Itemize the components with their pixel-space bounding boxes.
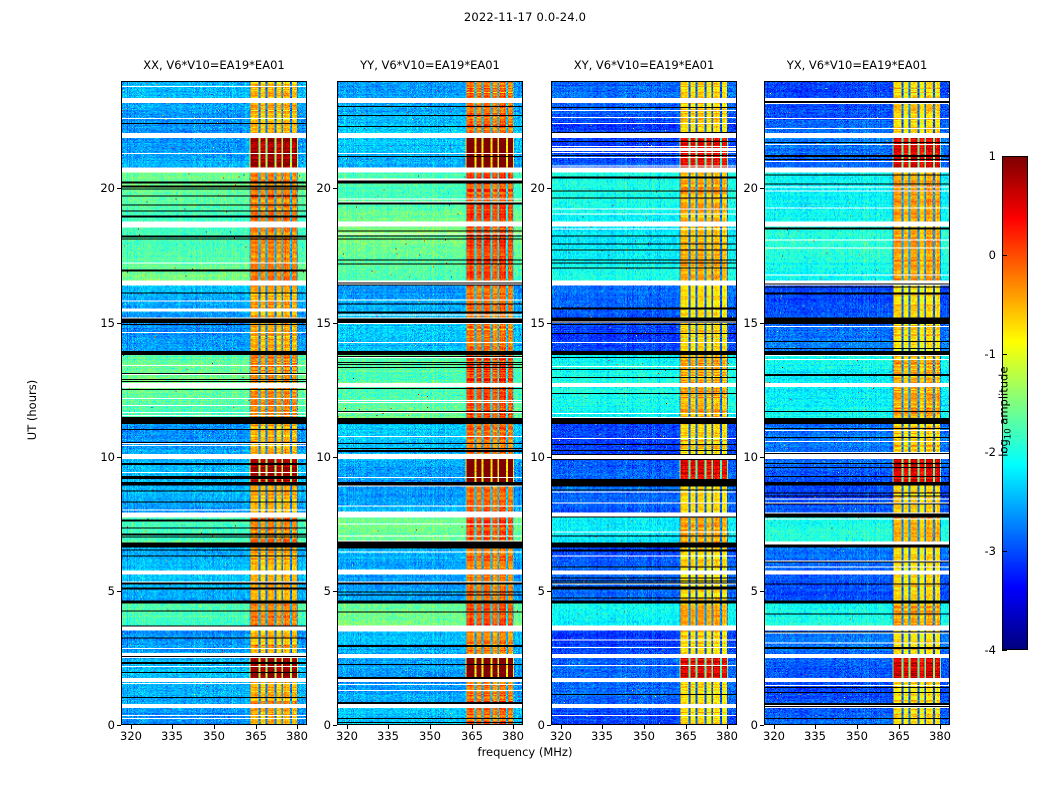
y-tick [117, 591, 121, 592]
y-tick [547, 725, 551, 726]
colorbar-tick-label: -2 [960, 445, 996, 459]
colorbar-tick [1002, 650, 1007, 651]
colorbar-tick-label: 1 [960, 149, 996, 163]
y-tick-label: 15 [295, 316, 331, 330]
y-tick [547, 323, 551, 324]
panel-title-yx: YX, V6*V10=EA19*EA01 [764, 58, 950, 72]
panel-title-xy: XY, V6*V10=EA19*EA01 [551, 58, 737, 72]
y-tick-label: 0 [722, 718, 758, 732]
x-tick-label: 350 [846, 729, 868, 743]
y-tick [333, 457, 337, 458]
y-tick-label: 5 [722, 584, 758, 598]
y-tick [333, 725, 337, 726]
x-tick-label: 335 [804, 729, 826, 743]
colorbar-tick-label: -4 [960, 643, 996, 657]
y-tick [760, 188, 764, 189]
y-tick-label: 10 [295, 450, 331, 464]
x-tick-label: 320 [550, 729, 572, 743]
y-tick-label: 10 [509, 450, 545, 464]
y-tick-label: 0 [509, 718, 545, 732]
y-tick [117, 725, 121, 726]
colorbar-tick [1002, 156, 1007, 157]
y-tick-label: 20 [509, 181, 545, 195]
y-tick [547, 591, 551, 592]
y-tick-label: 20 [79, 181, 115, 195]
y-tick-label: 10 [722, 450, 758, 464]
y-tick-label: 10 [79, 450, 115, 464]
x-tick-label: 350 [419, 729, 441, 743]
y-tick-label: 0 [295, 718, 331, 732]
x-tick-label: 350 [203, 729, 225, 743]
x-tick-label: 380 [929, 729, 951, 743]
y-tick-label: 15 [79, 316, 115, 330]
colorbar-tick [1002, 255, 1007, 256]
y-tick [760, 457, 764, 458]
y-tick-label: 5 [295, 584, 331, 598]
y-tick [547, 188, 551, 189]
x-tick-label: 365 [461, 729, 483, 743]
y-tick-label: 20 [295, 181, 331, 195]
x-tick-label: 365 [888, 729, 910, 743]
y-tick [760, 591, 764, 592]
y-tick [333, 188, 337, 189]
colorbar-tick-label: -1 [960, 347, 996, 361]
y-tick [333, 591, 337, 592]
x-tick-label: 335 [161, 729, 183, 743]
x-tick-label: 365 [675, 729, 697, 743]
x-tick-label: 320 [763, 729, 785, 743]
y-tick-label: 20 [722, 181, 758, 195]
y-tick-label: 15 [509, 316, 545, 330]
x-tick-label: 320 [336, 729, 358, 743]
y-tick [760, 323, 764, 324]
waterfall-panel-xy[interactable] [551, 81, 737, 725]
colorbar-tick-label: 0 [960, 248, 996, 262]
panel-title-xx: XX, V6*V10=EA19*EA01 [121, 58, 307, 72]
panel-title-yy: YY, V6*V10=EA19*EA01 [337, 58, 523, 72]
waterfall-panel-yy[interactable] [337, 81, 523, 725]
y-tick-label: 5 [79, 584, 115, 598]
y-tick [117, 323, 121, 324]
colorbar-label: log10 amplitude [996, 342, 1013, 482]
waterfall-panel-yx[interactable] [764, 81, 950, 725]
x-tick-label: 335 [377, 729, 399, 743]
colorbar-tick-label: -3 [960, 544, 996, 558]
y-axis-label: UT (hours) [25, 350, 39, 470]
y-tick [117, 188, 121, 189]
y-tick [547, 457, 551, 458]
x-tick-label: 350 [633, 729, 655, 743]
y-tick-label: 0 [79, 718, 115, 732]
x-tick-label: 335 [591, 729, 613, 743]
x-tick-label: 365 [245, 729, 267, 743]
y-tick [760, 725, 764, 726]
figure-suptitle: 2022-11-17 0.0-24.0 [0, 10, 1050, 24]
y-tick-label: 5 [509, 584, 545, 598]
x-tick-label: 320 [120, 729, 142, 743]
y-tick [117, 457, 121, 458]
colorbar-tick [1002, 551, 1007, 552]
y-tick [333, 323, 337, 324]
figure-canvas: 2022-11-17 0.0-24.0 XX, V6*V10=EA19*EA01… [0, 0, 1050, 800]
x-axis-label: frequency (MHz) [0, 745, 1050, 759]
waterfall-panel-xx[interactable] [121, 81, 307, 725]
y-tick-label: 15 [722, 316, 758, 330]
